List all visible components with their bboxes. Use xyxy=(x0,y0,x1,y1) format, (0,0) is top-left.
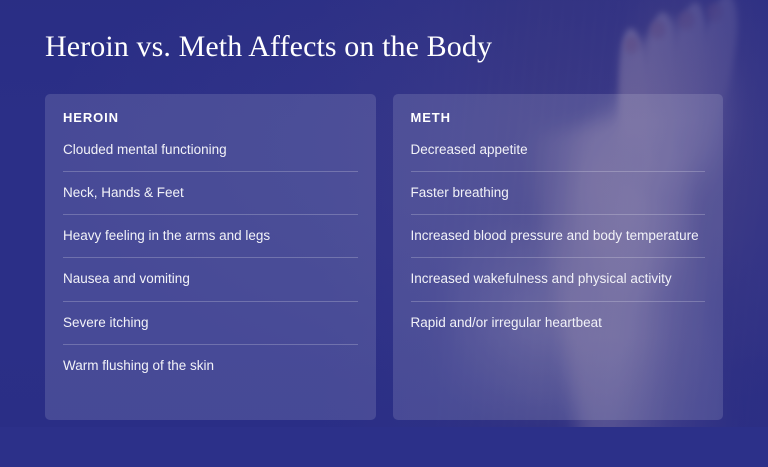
card-heroin-title: HEROIN xyxy=(63,110,358,125)
list-item: Neck, Hands & Feet xyxy=(63,171,358,214)
card-meth: METH Decreased appetite Faster breathing… xyxy=(393,94,724,420)
list-item: Clouded mental functioning xyxy=(63,140,358,171)
comparison-card-group: HEROIN Clouded mental functioning Neck, … xyxy=(45,94,723,420)
list-item: Faster breathing xyxy=(411,171,706,214)
list-item: Increased blood pressure and body temper… xyxy=(411,214,706,257)
list-item: Warm flushing of the skin xyxy=(63,344,358,387)
card-heroin: HEROIN Clouded mental functioning Neck, … xyxy=(45,94,376,420)
bottom-color-band xyxy=(0,427,768,467)
card-meth-title: METH xyxy=(411,110,706,125)
infographic-canvas: Heroin vs. Meth Affects on the Body HERO… xyxy=(0,0,768,467)
list-item: Decreased appetite xyxy=(411,140,706,171)
list-item: Nausea and vomiting xyxy=(63,257,358,300)
card-meth-list: Decreased appetite Faster breathing Incr… xyxy=(411,140,706,344)
card-heroin-list: Clouded mental functioning Neck, Hands &… xyxy=(63,140,358,387)
list-item: Increased wakefulness and physical activ… xyxy=(411,257,706,300)
list-item: Rapid and/or irregular heartbeat xyxy=(411,301,706,344)
list-item: Severe itching xyxy=(63,301,358,344)
page-title: Heroin vs. Meth Affects on the Body xyxy=(45,29,492,65)
list-item: Heavy feeling in the arms and legs xyxy=(63,214,358,257)
